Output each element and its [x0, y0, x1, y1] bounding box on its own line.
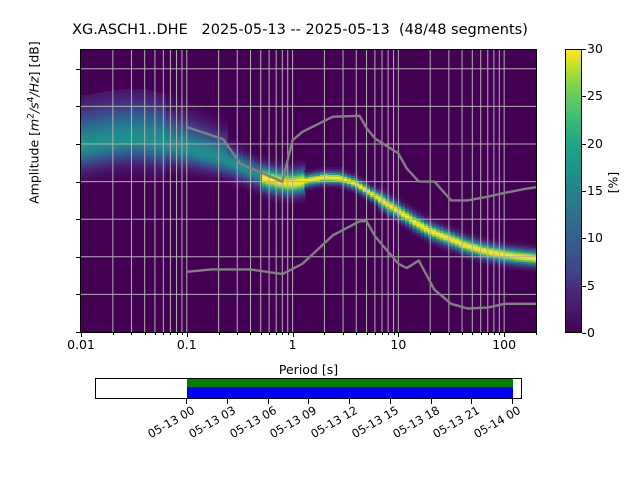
x-axis-tick-mark: [504, 333, 505, 337]
x-axis-minor-tick-mark: [276, 333, 277, 335]
colorbar-tick-mark: [582, 49, 586, 50]
x-axis-minor-tick-mark: [282, 333, 283, 335]
x-axis-minor-tick-mark: [182, 333, 183, 335]
x-axis-minor-tick-mark: [261, 333, 262, 335]
page-title: XG.ASCH1..DHE 2025-05-13 -- 2025-05-13 (…: [0, 22, 600, 38]
colorbar-tick-mark: [582, 286, 586, 287]
time-axis-tick-mark: [431, 399, 432, 404]
y-axis-label: Amplitude [m2/s4/Hz] [dB]: [26, 0, 41, 273]
x-axis-tick-label: 1: [253, 337, 333, 352]
x-axis-minor-tick-mark: [324, 333, 325, 335]
colorbar-tick-label: 20: [587, 136, 640, 151]
x-axis-minor-tick-mark: [394, 333, 395, 335]
x-axis-minor-tick-mark: [481, 333, 482, 335]
x-axis-minor-tick-mark: [472, 333, 473, 335]
colorbar-tick-label: 15: [587, 183, 640, 198]
y-axis-tick-mark: [76, 182, 80, 183]
x-axis-minor-tick-mark: [388, 333, 389, 335]
x-axis-minor-tick-mark: [177, 333, 178, 335]
y-axis-tick-mark: [76, 69, 80, 70]
x-axis-minor-tick-mark: [170, 333, 171, 335]
colorbar: [565, 49, 582, 333]
time-axis-tick-mark: [186, 399, 187, 404]
y-axis-tick-mark: [76, 332, 80, 333]
x-axis-tick-label: 10: [358, 337, 438, 352]
psd-plot-area[interactable]: [80, 49, 537, 333]
psd-density-canvas: [81, 50, 536, 332]
x-axis-minor-tick-mark: [219, 333, 220, 335]
x-axis-tick-label: 0.1: [147, 337, 227, 352]
x-axis-minor-tick-mark: [163, 333, 164, 335]
x-axis-minor-tick-mark: [356, 333, 357, 335]
x-axis-minor-tick-mark: [237, 333, 238, 335]
colorbar-tick-label: 30: [587, 41, 640, 56]
x-axis-minor-tick-mark: [462, 333, 463, 335]
colorbar-tick-mark: [582, 96, 586, 97]
x-axis-minor-tick-mark: [250, 333, 251, 335]
time-axis-tick-mark: [227, 399, 228, 404]
colorbar-tick-mark: [582, 333, 586, 334]
colorbar-tick-label: 0: [587, 325, 640, 340]
coverage-segment-blue: [187, 387, 513, 398]
x-axis-minor-tick-mark: [113, 333, 114, 335]
x-axis-tick-label: 0.01: [41, 337, 121, 352]
x-axis-tick-mark: [398, 333, 399, 337]
time-axis-tick-mark: [390, 399, 391, 404]
colorbar-tick-label: 5: [587, 278, 640, 293]
x-axis-minor-tick-mark: [343, 333, 344, 335]
x-axis-minor-tick-mark: [382, 333, 383, 335]
y-axis-tick-mark: [76, 144, 80, 145]
y-axis-tick-mark: [76, 294, 80, 295]
colorbar-tick-label: 10: [587, 230, 640, 245]
x-axis-minor-tick-mark: [494, 333, 495, 335]
x-axis-minor-tick-mark: [375, 333, 376, 335]
x-axis-tick-mark: [187, 333, 188, 337]
y-axis-tick-mark: [76, 257, 80, 258]
colorbar-tick-mark: [582, 238, 586, 239]
colorbar-tick-mark: [582, 144, 586, 145]
x-axis-minor-tick-mark: [430, 333, 431, 335]
data-coverage-bar[interactable]: [95, 378, 522, 399]
x-axis-minor-tick-mark: [155, 333, 156, 335]
x-axis-minor-tick-mark: [536, 333, 537, 335]
x-axis-minor-tick-mark: [288, 333, 289, 335]
x-axis-minor-tick-mark: [499, 333, 500, 335]
x-axis-tick-mark: [81, 333, 82, 337]
colorbar-tick-label: 25: [587, 88, 640, 103]
y-axis-tick-mark: [76, 106, 80, 107]
x-axis-tick-mark: [293, 333, 294, 337]
x-axis-minor-tick-mark: [145, 333, 146, 335]
x-axis-minor-tick-mark: [269, 333, 270, 335]
x-axis-minor-tick-mark: [449, 333, 450, 335]
time-axis-tick-mark: [268, 399, 269, 404]
coverage-segment-green: [187, 379, 513, 387]
x-axis-minor-tick-mark: [488, 333, 489, 335]
colorbar-tick-mark: [582, 191, 586, 192]
x-axis-minor-tick-mark: [131, 333, 132, 335]
x-axis-label: Period [s]: [80, 362, 537, 377]
y-axis-tick-mark: [76, 219, 80, 220]
x-axis-minor-tick-mark: [367, 333, 368, 335]
x-axis-tick-label: 100: [464, 337, 544, 352]
ppsd-figure: XG.ASCH1..DHE 2025-05-13 -- 2025-05-13 (…: [0, 0, 640, 480]
